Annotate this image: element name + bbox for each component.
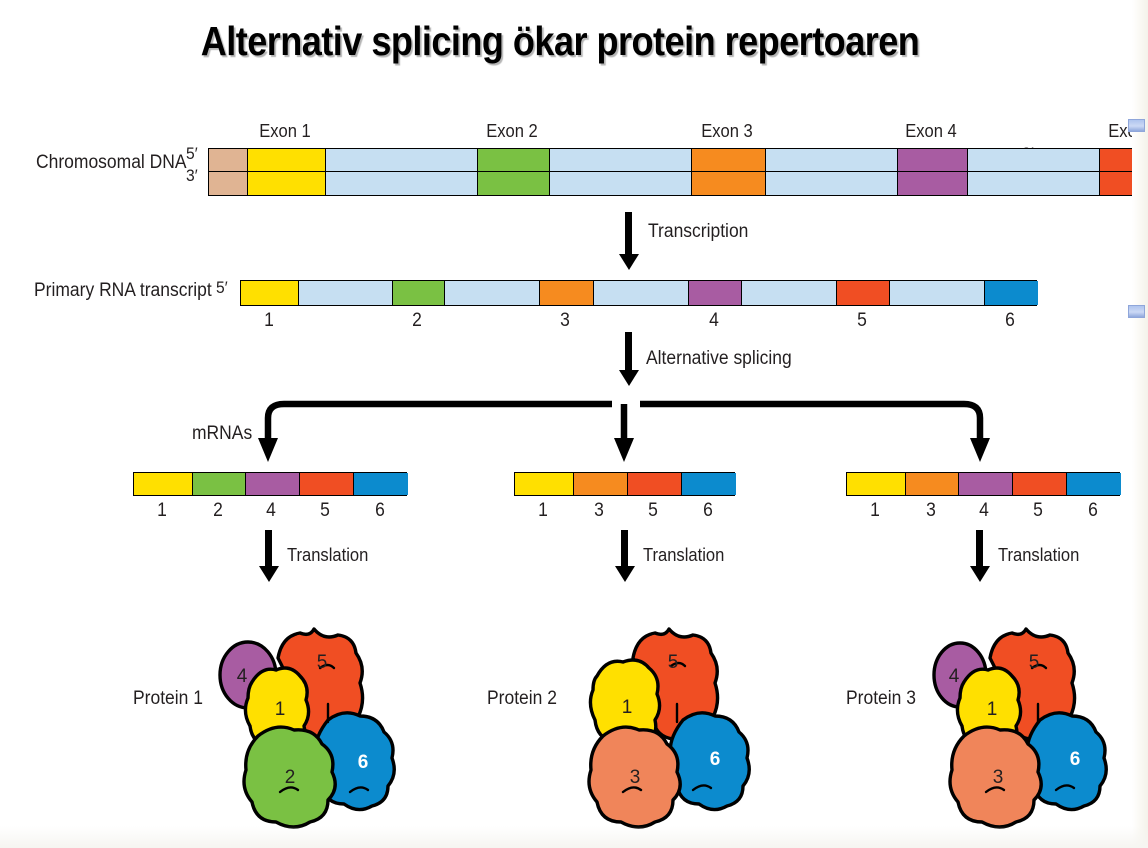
- transcript-exon-4: [688, 281, 741, 305]
- dna-strand-top: [208, 148, 1148, 173]
- protein-3-num-5: 5: [1029, 652, 1040, 673]
- protein-3-structure: 4 5 1 6 3: [912, 610, 1148, 825]
- dna-top-intron-4: [967, 149, 1099, 172]
- translation-arrow-shaft-1: [265, 530, 272, 570]
- translation-label-3: Translation: [998, 545, 1079, 566]
- protein-3-num-1: 1: [987, 699, 998, 720]
- dna-top-intron-2: [549, 149, 691, 172]
- protein-3-num-4: 4: [949, 666, 960, 687]
- page-title: Alternativ splicing ökar protein reperto…: [67, 18, 1053, 65]
- protein-1-label: Protein 1: [133, 688, 203, 710]
- mrna-3-exon-1: [847, 473, 905, 495]
- mrna-2-exon-1: [515, 473, 573, 495]
- edge-marker-top[interactable]: [1128, 119, 1145, 132]
- protein-1-num-5: 5: [317, 652, 328, 673]
- transcript-intron-4: [741, 281, 836, 305]
- translation-arrow-head-3: [970, 566, 990, 582]
- transcript-intron-5: [889, 281, 984, 305]
- dna-top-exon-2: [477, 149, 549, 172]
- dna-bottom-intron-4: [967, 172, 1099, 195]
- mrna-arrow-head-center: [614, 438, 634, 462]
- mrna-1-exon-number-6: 6: [343, 500, 417, 522]
- mrna-2-exon-6: [681, 473, 736, 495]
- protein-2-num-6: 6: [710, 749, 721, 770]
- dna-bottom-intron-3: [765, 172, 897, 195]
- transcript-exon-3: [539, 281, 593, 305]
- mrna-3-exon-6: [1066, 473, 1121, 495]
- alt-splicing-arrow-head: [619, 370, 639, 386]
- transcript-exon-number-6: 6: [973, 310, 1047, 332]
- translation-label-1: Translation: [287, 545, 368, 566]
- mrna-2-exon-3: [573, 473, 627, 495]
- protein-2-label: Protein 2: [487, 688, 557, 710]
- mrna-1-exon-5: [299, 473, 353, 495]
- alt-splicing-arrow-shaft: [625, 332, 632, 374]
- transcription-arrow-shaft: [625, 212, 632, 258]
- dna-bottom-intron-1: [325, 172, 477, 195]
- protein-2-structure: 5 1 6 3: [555, 610, 795, 825]
- dna-bottom-exon-4: [897, 172, 967, 195]
- dna-top-utr-left: [209, 149, 247, 172]
- transcript-intron-2: [444, 281, 539, 305]
- dna-top-exon-3: [691, 149, 765, 172]
- dna-bottom-utr-left: [209, 172, 247, 195]
- primary-transcript-bar: [240, 280, 1037, 306]
- mrna-2-exon-5: [627, 473, 681, 495]
- transcript-intron-3: [593, 281, 688, 305]
- dna-exon-label-1: Exon 1: [230, 121, 340, 142]
- mrna-bar-1: [133, 472, 407, 496]
- transcript-exon-number-5: 5: [825, 310, 899, 332]
- dna-bottom-exon-1: [247, 172, 325, 195]
- mrna-1-exon-4: [245, 473, 299, 495]
- chromosomal-dna-bar: [208, 148, 1020, 196]
- protein-3-label: Protein 3: [846, 688, 916, 710]
- transcript-end-5prime: 5′: [216, 278, 228, 298]
- protein-1-num-6: 6: [358, 752, 369, 773]
- alternative-splicing-label: Alternative splicing: [646, 348, 792, 370]
- mrna-3-exon-4: [958, 473, 1012, 495]
- transcript-exon-number-4: 4: [677, 310, 751, 332]
- protein-3-num-6: 6: [1070, 749, 1081, 770]
- edge-marker-bottom[interactable]: [1128, 305, 1145, 318]
- transcript-exon-6: [984, 281, 1038, 305]
- mrna-1-exon-6: [353, 473, 408, 495]
- transcript-exon-5: [836, 281, 889, 305]
- transcription-label: Transcription: [648, 221, 748, 243]
- mrna-3-exon-number-6: 6: [1056, 500, 1130, 522]
- protein-1-num-2: 2: [285, 767, 296, 788]
- mrna-1-exon-1: [134, 473, 192, 495]
- dna-bottom-exon-3: [691, 172, 765, 195]
- dna-top-exon-1: [247, 149, 325, 172]
- mrna-1-exon-2: [192, 473, 245, 495]
- transcript-exon-number-2: 2: [380, 310, 454, 332]
- mrna-bar-2: [514, 472, 735, 496]
- dna-bottom-exon-2: [477, 172, 549, 195]
- translation-arrow-shaft-2: [621, 530, 628, 570]
- transcript-intron-1: [298, 281, 392, 305]
- dna-top-intron-1: [325, 149, 477, 172]
- dna-strand-bottom: [208, 171, 1148, 196]
- transcript-exon-number-1: 1: [232, 310, 306, 332]
- primary-transcript-label: Primary RNA transcript: [34, 280, 212, 302]
- dna-exon-label-3: Exon 3: [672, 121, 782, 142]
- translation-arrow-shaft-3: [976, 530, 983, 570]
- protein-2-num-5: 5: [668, 652, 679, 673]
- mrna-2-exon-number-6: 6: [671, 500, 745, 522]
- mrna-bar-3: [846, 472, 1120, 496]
- dna-end-5prime-left: 5′: [186, 144, 198, 164]
- transcription-arrow-head: [619, 254, 639, 270]
- dna-top-intron-3: [765, 149, 897, 172]
- dna-end-3prime-left: 3′: [186, 166, 198, 186]
- dna-exon-label-2: Exon 2: [457, 121, 567, 142]
- mrnas-label: mRNAs: [192, 423, 252, 445]
- chromosomal-dna-label: Chromosomal DNA: [36, 152, 187, 174]
- protein-1-structure: 4 5 1 6 2: [200, 610, 440, 825]
- slide-canvas: Alternativ splicing ökar protein reperto…: [0, 0, 1148, 848]
- protein-3-num-3: 3: [993, 767, 1004, 788]
- transcript-exon-number-3: 3: [528, 310, 602, 332]
- translation-label-2: Translation: [643, 545, 724, 566]
- mrna-3-exon-3: [905, 473, 958, 495]
- mrna-3-exon-5: [1012, 473, 1066, 495]
- protein-1-num-1: 1: [275, 699, 286, 720]
- dna-exon-label-4: Exon 4: [876, 121, 986, 142]
- protein-1-num-4: 4: [237, 666, 248, 687]
- dna-top-exon-4: [897, 149, 967, 172]
- transcript-exon-1: [241, 281, 298, 305]
- mrna-arrow-head-left: [258, 438, 278, 462]
- protein-2-num-1: 1: [622, 697, 633, 718]
- protein-2-num-3: 3: [630, 767, 641, 788]
- dna-bottom-intron-2: [549, 172, 691, 195]
- transcript-exon-2: [392, 281, 444, 305]
- translation-arrow-head-1: [259, 566, 279, 582]
- bottom-fade: [0, 826, 1148, 848]
- translation-arrow-head-2: [615, 566, 635, 582]
- mrna-arrow-head-right: [970, 438, 990, 462]
